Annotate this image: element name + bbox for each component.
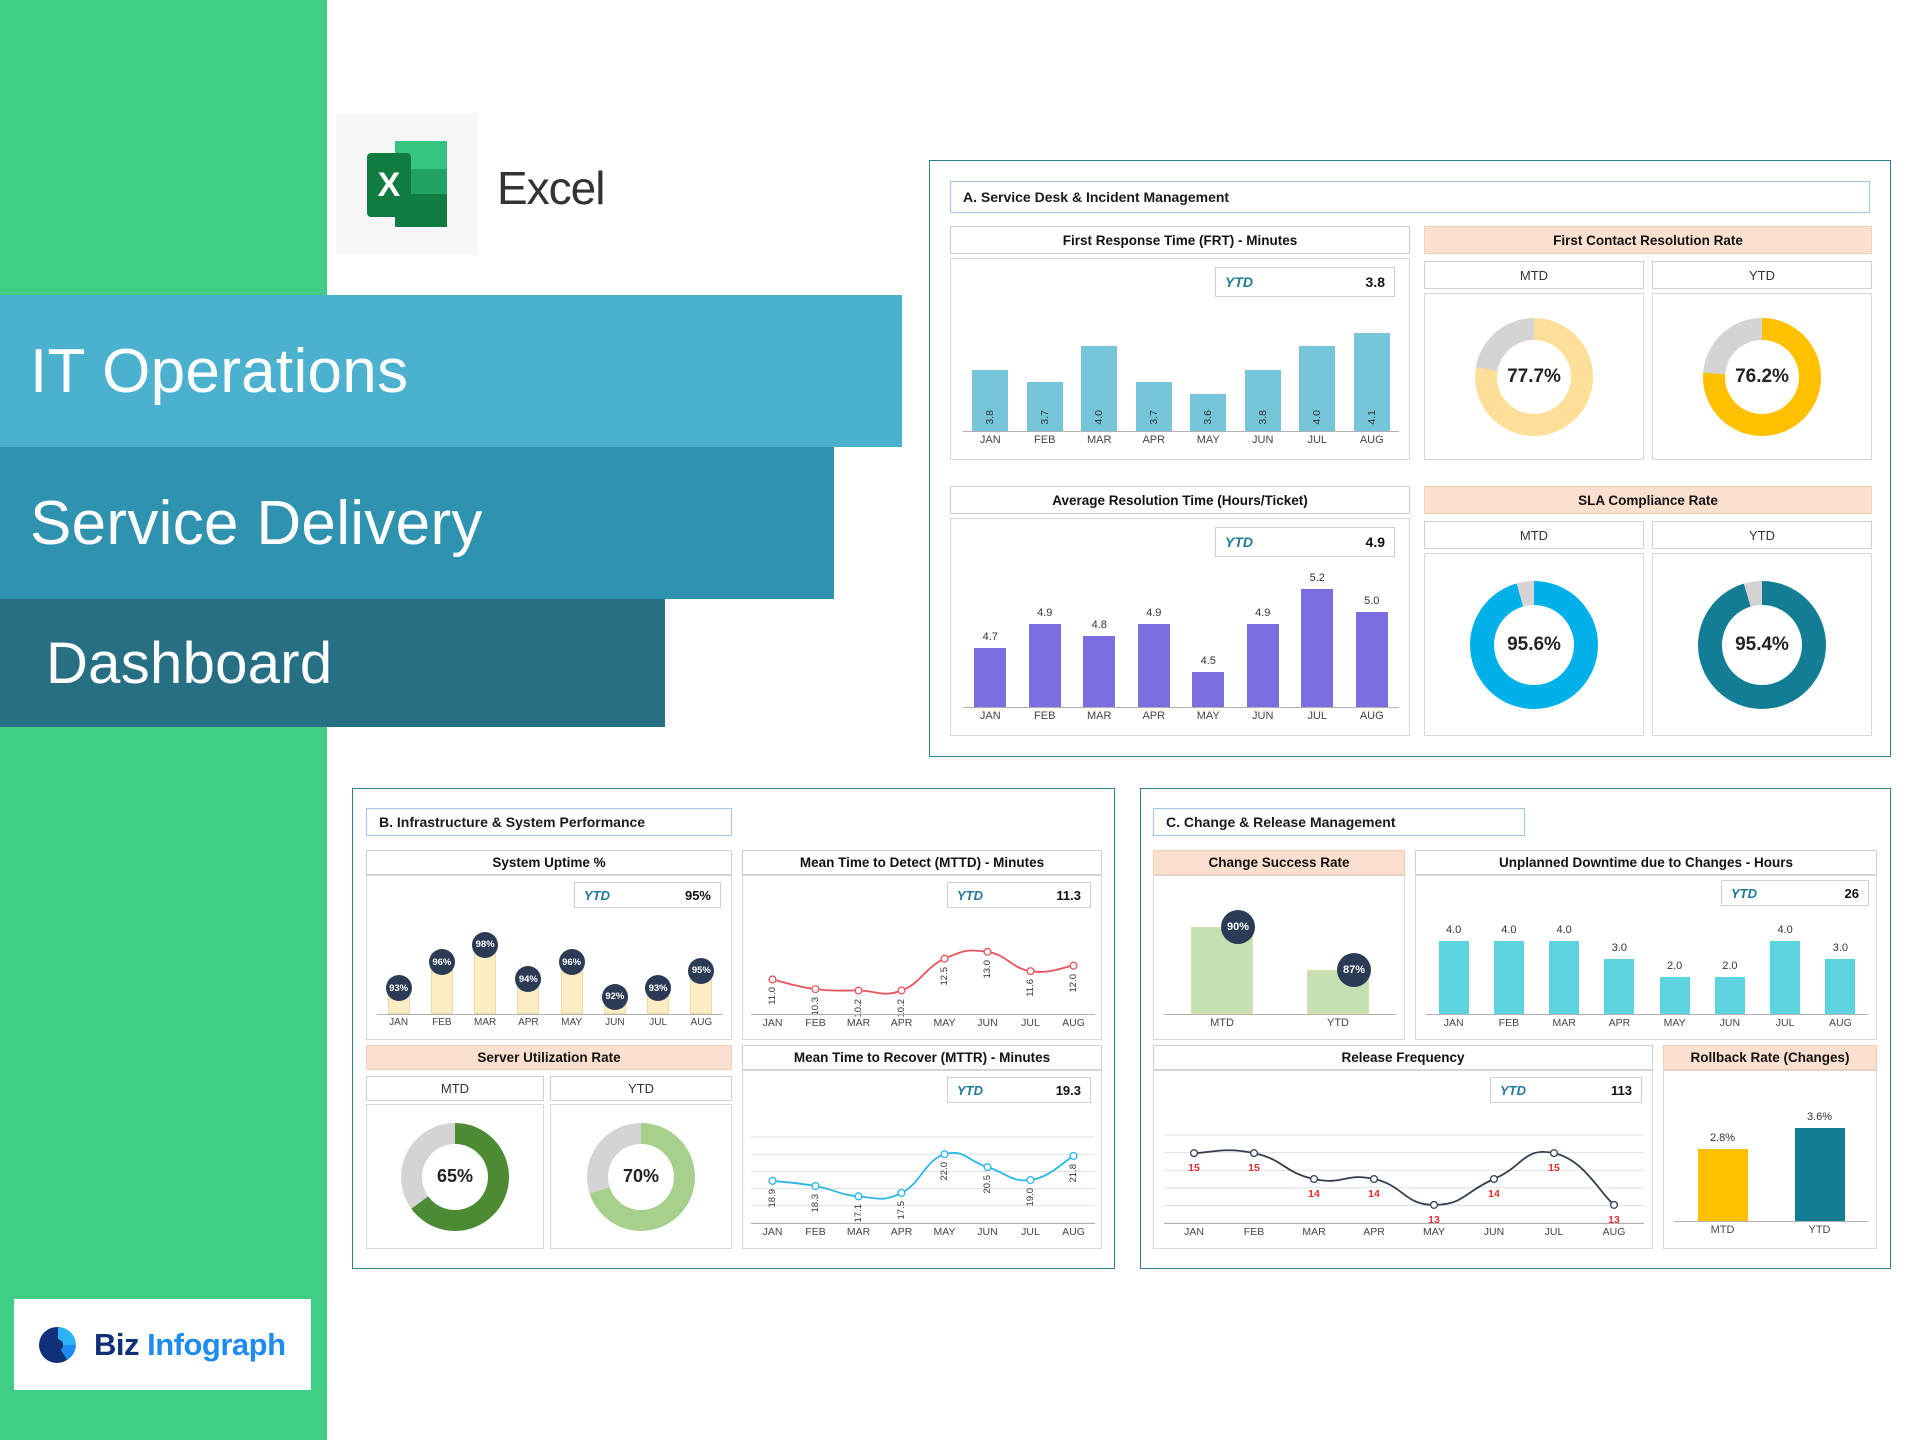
bar-value-label: 5.0 <box>1345 595 1400 607</box>
x-axis <box>1674 1221 1868 1222</box>
card-title-server-util: Server Utilization Rate <box>366 1045 732 1070</box>
donut-card-sla-mtd: 95.6% <box>1424 553 1644 736</box>
bar-mar <box>1083 636 1115 707</box>
bar-value-bubble: 93% <box>386 975 412 1001</box>
x-tick-label: MAY <box>550 1017 593 1028</box>
bar-feb <box>1494 941 1524 1014</box>
x-tick-label: MAY <box>1181 434 1236 446</box>
point-value-label: 14 <box>1284 1188 1344 1200</box>
bar-aug <box>1825 959 1855 1014</box>
x-axis-labels: MTDYTD <box>1674 1224 1868 1236</box>
chart-card-rollback: 2.8%3.6%MTDYTD <box>1663 1070 1877 1249</box>
x-tick-label: JUN <box>593 1017 636 1028</box>
point-value-label: 13.0 <box>982 960 993 979</box>
chart-card-frt: YTD 3.8 3.83.74.03.73.63.84.04.1JANFEBMA… <box>950 258 1410 460</box>
bar-value-bubble: 93% <box>645 975 671 1001</box>
donut-card-fcr-ytd: 76.2% <box>1652 293 1872 460</box>
x-tick-label: AUG <box>680 1017 723 1028</box>
card-title-change-success: Change Success Rate <box>1153 850 1405 875</box>
bar-value-label: 4.0 <box>1426 924 1481 936</box>
ytd-value: 113 <box>1611 1083 1632 1098</box>
bar-value-label: 4.9 <box>1236 607 1291 619</box>
x-tick-label: AUG <box>1052 1017 1095 1029</box>
bar-value-label: 3.0 <box>1813 942 1868 954</box>
x-tick-label: JAN <box>751 1226 794 1238</box>
title-line-1: IT Operations <box>0 336 408 407</box>
point-value-label: 20.5 <box>982 1175 993 1194</box>
point-value-label: 18.3 <box>810 1194 821 1213</box>
donut-chart: 76.2% <box>1703 318 1821 436</box>
donut-value-label: 95.6% <box>1507 634 1561 656</box>
x-tick-label: JUL <box>1290 434 1345 446</box>
bar-value-label: 3.7 <box>1148 410 1160 425</box>
x-tick-label: YTD <box>1771 1224 1868 1236</box>
chart-card-change-success: 90%87%MTDYTD <box>1153 875 1405 1040</box>
x-tick-label: MAR <box>837 1226 880 1238</box>
card-title-release-frequency: Release Frequency <box>1153 1045 1653 1070</box>
ytd-value: 95% <box>685 888 711 903</box>
ytd-value: 11.3 <box>1056 888 1081 903</box>
x-tick-label: JAN <box>1164 1226 1224 1238</box>
point-value-label: 10.3 <box>810 997 821 1016</box>
section-a-title: A. Service Desk & Incident Management <box>950 181 1870 213</box>
donut-value-label: 65% <box>437 1166 473 1187</box>
bar-feb <box>1029 624 1061 707</box>
bar-value-label: 3.6% <box>1771 1111 1868 1123</box>
x-tick-label: JAN <box>1426 1017 1481 1029</box>
x-axis <box>751 1223 1095 1224</box>
donut-value-label: 95.4% <box>1735 634 1789 656</box>
point-value-label: 15 <box>1224 1162 1284 1174</box>
x-axis-labels: MTDYTD <box>1164 1017 1396 1029</box>
x-tick-label: MAR <box>1072 710 1127 722</box>
point-value-label: 21.8 <box>1068 1164 1079 1183</box>
x-axis-labels: JANFEBMARAPRMAYJUNJULAUG <box>963 434 1399 446</box>
point-value-label: 11.6 <box>1025 979 1036 997</box>
point-value-label: 11.0 <box>767 987 778 1005</box>
point-value-label: 22.0 <box>939 1162 950 1181</box>
bar-value-label: 4.9 <box>1127 607 1182 619</box>
x-tick-label: JUN <box>1236 710 1291 722</box>
ytd-value: 19.3 <box>1056 1083 1081 1098</box>
x-tick-label: JUL <box>1758 1017 1813 1029</box>
chart-card-mttd: YTD 11.3 11.010.310.210.212.513.011.612.… <box>742 875 1102 1040</box>
x-tick-label: AUG <box>1345 434 1400 446</box>
bar-value-label: 4.9 <box>1018 607 1073 619</box>
x-tick-label: APR <box>1592 1017 1647 1029</box>
bar-jul <box>1301 589 1333 707</box>
point-value-label: 19.0 <box>1025 1188 1036 1207</box>
x-tick-label: FEB <box>420 1017 463 1028</box>
excel-icon: X <box>336 113 478 255</box>
bar-value-bubble: 95% <box>688 958 714 984</box>
x-tick-label: AUG <box>1345 710 1400 722</box>
chart-card-mttr: YTD 19.3 18.918.317.117.522.020.519.021.… <box>742 1070 1102 1249</box>
x-tick-label: MAY <box>1181 710 1236 722</box>
bar-value-label: 3.8 <box>984 410 996 425</box>
point-value-label: 14 <box>1344 1188 1404 1200</box>
x-tick-label: JUN <box>966 1017 1009 1029</box>
x-tick-label: AUG <box>1813 1017 1868 1029</box>
x-axis <box>751 1014 1095 1015</box>
bar-value-label: 4.7 <box>963 631 1018 643</box>
x-tick-label: FEB <box>794 1226 837 1238</box>
bar-may <box>1660 977 1690 1014</box>
donut-value-label: 76.2% <box>1735 366 1789 388</box>
x-tick-label: JUL <box>1009 1017 1052 1029</box>
bar-jun <box>1247 624 1279 707</box>
ytd-badge-downtime: YTD 26 <box>1721 880 1869 906</box>
point-value-label: 18.9 <box>767 1189 778 1208</box>
bar-value-label: 2.0 <box>1647 960 1702 972</box>
card-title-unplanned-downtime: Unplanned Downtime due to Changes - Hour… <box>1415 850 1877 875</box>
ytd-badge-frt: YTD 3.8 <box>1215 267 1395 297</box>
logo-word-biz: Biz <box>94 1327 139 1362</box>
chart-card-uptime: YTD 95% 93%96%98%94%96%92%93%95%JANFEBMA… <box>366 875 732 1040</box>
bar-value-label: 4.0 <box>1093 410 1105 425</box>
x-axis <box>1164 1014 1396 1015</box>
bar-value-label: 3.0 <box>1592 942 1647 954</box>
x-tick-label: FEB <box>1481 1017 1536 1029</box>
ytd-label: YTD <box>957 1083 983 1098</box>
x-axis-labels: JANFEBMARAPRMAYJUNJULAUG <box>1426 1017 1868 1029</box>
x-tick-label: MAY <box>923 1226 966 1238</box>
bar-jun <box>1715 977 1745 1014</box>
x-tick-label: MAR <box>1284 1226 1344 1238</box>
bar-apr <box>1604 959 1634 1014</box>
bar-value-label: 4.0 <box>1537 924 1592 936</box>
point-value-label: 13 <box>1404 1214 1464 1226</box>
ytd-label: YTD <box>1225 274 1253 290</box>
ytd-value: 26 <box>1845 886 1859 901</box>
subhead-util-ytd: YTD <box>550 1076 732 1101</box>
x-tick-label: YTD <box>1280 1017 1396 1029</box>
ytd-label: YTD <box>957 888 983 903</box>
point-value-label: 12.5 <box>939 967 950 986</box>
x-tick-label: MAR <box>464 1017 507 1028</box>
ytd-label: YTD <box>1731 886 1757 901</box>
x-tick-label: MAY <box>1647 1017 1702 1029</box>
donut-card-util-ytd: 70% <box>550 1104 732 1249</box>
x-tick-label: FEB <box>1224 1226 1284 1238</box>
donut-card-util-mtd: 65% <box>366 1104 544 1249</box>
chart-card-unplanned-downtime: YTD 26 4.04.04.03.02.02.04.03.0JANFEBMAR… <box>1415 875 1877 1040</box>
x-tick-label: JAN <box>963 710 1018 722</box>
x-tick-label: MTD <box>1164 1017 1280 1029</box>
bar-value-label: 2.0 <box>1702 960 1757 972</box>
ytd-label: YTD <box>1500 1083 1526 1098</box>
point-value-label: 15 <box>1524 1162 1584 1174</box>
bar-jan <box>1439 941 1469 1014</box>
x-tick-label: MAR <box>837 1017 880 1029</box>
x-tick-label: JAN <box>963 434 1018 446</box>
bar-ytd <box>1795 1128 1845 1221</box>
card-title-mttd: Mean Time to Detect (MTTD) - Minutes <box>742 850 1102 875</box>
card-title-art: Average Resolution Time (Hours/Ticket) <box>950 486 1410 514</box>
pie-chart-icon <box>36 1323 80 1367</box>
card-title-fcr: First Contact Resolution Rate <box>1424 226 1872 254</box>
title-line-3: Dashboard <box>0 630 332 697</box>
donut-card-fcr-mtd: 77.7% <box>1424 293 1644 460</box>
x-tick-label: JUN <box>1236 434 1291 446</box>
bar-value-label: 5.2 <box>1290 572 1345 584</box>
point-value-label: 14 <box>1464 1188 1524 1200</box>
line-series <box>751 912 1095 1034</box>
title-band-dashboard: Dashboard <box>0 599 665 727</box>
donut-chart: 95.4% <box>1698 581 1826 709</box>
x-axis <box>963 431 1399 432</box>
ytd-badge-uptime: YTD 95% <box>574 882 721 908</box>
x-tick-label: FEB <box>794 1017 837 1029</box>
point-value-label: 17.1 <box>853 1204 864 1223</box>
subhead-sla-mtd: MTD <box>1424 521 1644 549</box>
x-tick-label: MAY <box>923 1017 966 1029</box>
donut-chart: 95.6% <box>1470 581 1598 709</box>
card-title-sla: SLA Compliance Rate <box>1424 486 1872 514</box>
bar-value-label: 3.7 <box>1039 410 1051 425</box>
x-tick-label: MTD <box>1674 1224 1771 1236</box>
donut-chart: 65% <box>401 1123 509 1231</box>
x-axis-labels: JANFEBMARAPRMAYJUNJULAUG <box>751 1226 1095 1238</box>
donut-card-sla-ytd: 95.4% <box>1652 553 1872 736</box>
x-tick-label: APR <box>880 1226 923 1238</box>
section-c-title: C. Change & Release Management <box>1153 808 1525 836</box>
bar-apr <box>1138 624 1170 707</box>
point-value-label: 15 <box>1164 1162 1224 1174</box>
ytd-label: YTD <box>584 888 610 903</box>
ytd-value: 3.8 <box>1366 274 1385 290</box>
bar-value-bubble: 96% <box>559 949 585 975</box>
x-tick-label: AUG <box>1584 1226 1644 1238</box>
x-tick-label: APR <box>1344 1226 1404 1238</box>
donut-value-label: 70% <box>623 1166 659 1187</box>
point-value-label: 12.0 <box>1068 974 1079 993</box>
donut-chart: 77.7% <box>1475 318 1593 436</box>
x-axis-labels: JANFEBMARAPRMAYJUNJULAUG <box>377 1017 723 1028</box>
ytd-badge-mttd: YTD 11.3 <box>947 882 1091 908</box>
bar-value-label: 4.0 <box>1311 410 1323 425</box>
x-axis <box>1164 1223 1644 1224</box>
bar-aug <box>1356 612 1388 707</box>
x-tick-label: JUL <box>1524 1226 1584 1238</box>
x-tick-label: JUN <box>1464 1226 1524 1238</box>
x-tick-label: MAR <box>1072 434 1127 446</box>
ytd-badge-mttr: YTD 19.3 <box>947 1077 1091 1103</box>
bar-may <box>1192 672 1224 707</box>
x-tick-label: JAN <box>377 1017 420 1028</box>
bar-value-bubble: 90% <box>1221 910 1255 944</box>
donut-chart: 70% <box>587 1123 695 1231</box>
excel-label: Excel <box>497 161 604 215</box>
donut-value-label: 77.7% <box>1507 366 1561 388</box>
section-b-title: B. Infrastructure & System Performance <box>366 808 732 836</box>
title-line-2: Service Delivery <box>0 488 483 559</box>
card-title-frt: First Response Time (FRT) - Minutes <box>950 226 1410 254</box>
title-band-it-operations: IT Operations <box>0 295 902 447</box>
chart-card-release-frequency: YTD 113 1515141413141513JANFEBMARAPRMAYJ… <box>1153 1070 1653 1249</box>
x-tick-label: JAN <box>751 1017 794 1029</box>
logo-word-infograph: Infograph <box>147 1327 285 1362</box>
x-tick-label: JUN <box>1702 1017 1757 1029</box>
bar-value-label: 4.8 <box>1072 619 1127 631</box>
bar-value-bubble: 98% <box>472 932 498 958</box>
subhead-fcr-mtd: MTD <box>1424 261 1644 289</box>
x-tick-label: MAR <box>1537 1017 1592 1029</box>
x-tick-label: APR <box>880 1017 923 1029</box>
ytd-badge-release: YTD 113 <box>1490 1077 1642 1103</box>
bar-value-label: 3.6 <box>1202 410 1214 425</box>
bar-value-label: 4.1 <box>1366 410 1378 425</box>
bar-value-label: 3.8 <box>1257 410 1269 425</box>
x-tick-label: JUN <box>966 1226 1009 1238</box>
bar-value-bubble: 96% <box>429 949 455 975</box>
bar-value-label: 2.8% <box>1674 1132 1771 1144</box>
x-tick-label: JUL <box>1009 1226 1052 1238</box>
bar-value-label: 4.0 <box>1758 924 1813 936</box>
x-tick-label: FEB <box>1018 434 1073 446</box>
subhead-fcr-ytd: YTD <box>1652 261 1872 289</box>
x-tick-label: MAY <box>1404 1226 1464 1238</box>
bar-mar <box>1549 941 1579 1014</box>
bar-jul <box>1770 941 1800 1014</box>
card-title-mttr: Mean Time to Recover (MTTR) - Minutes <box>742 1045 1102 1070</box>
bar-value-label: 4.5 <box>1181 655 1236 667</box>
subhead-util-mtd: MTD <box>366 1076 544 1101</box>
x-axis-labels: JANFEBMARAPRMAYJUNJULAUG <box>963 710 1399 722</box>
card-title-uptime: System Uptime % <box>366 850 732 875</box>
x-tick-label: JUL <box>637 1017 680 1028</box>
x-tick-label: AUG <box>1052 1226 1095 1238</box>
subhead-sla-ytd: YTD <box>1652 521 1872 549</box>
bar-value-label: 4.0 <box>1481 924 1536 936</box>
point-value-label: 17.5 <box>896 1201 907 1220</box>
biz-infograph-text: Biz Infograph <box>94 1327 286 1363</box>
title-band-service-delivery: Service Delivery <box>0 447 834 599</box>
x-tick-label: APR <box>507 1017 550 1028</box>
x-axis <box>1426 1014 1868 1015</box>
x-axis <box>963 707 1399 708</box>
x-axis <box>377 1014 723 1015</box>
biz-infograph-logo: Biz Infograph <box>14 1299 311 1390</box>
bar-jan <box>974 648 1006 707</box>
x-tick-label: FEB <box>1018 710 1073 722</box>
x-axis-labels: JANFEBMARAPRMAYJUNJULAUG <box>751 1017 1095 1029</box>
x-tick-label: APR <box>1127 434 1182 446</box>
x-axis-labels: JANFEBMARAPRMAYJUNJULAUG <box>1164 1226 1644 1238</box>
svg-text:X: X <box>378 166 401 204</box>
x-tick-label: JUL <box>1290 710 1345 722</box>
bar-mtd <box>1698 1149 1748 1221</box>
card-title-rollback: Rollback Rate (Changes) <box>1663 1045 1877 1070</box>
chart-card-art: YTD 4.9 4.74.94.84.94.54.95.25.0JANFEBMA… <box>950 518 1410 736</box>
bar-value-bubble: 92% <box>602 984 628 1010</box>
x-tick-label: APR <box>1127 710 1182 722</box>
point-value-label: 13 <box>1584 1214 1644 1226</box>
